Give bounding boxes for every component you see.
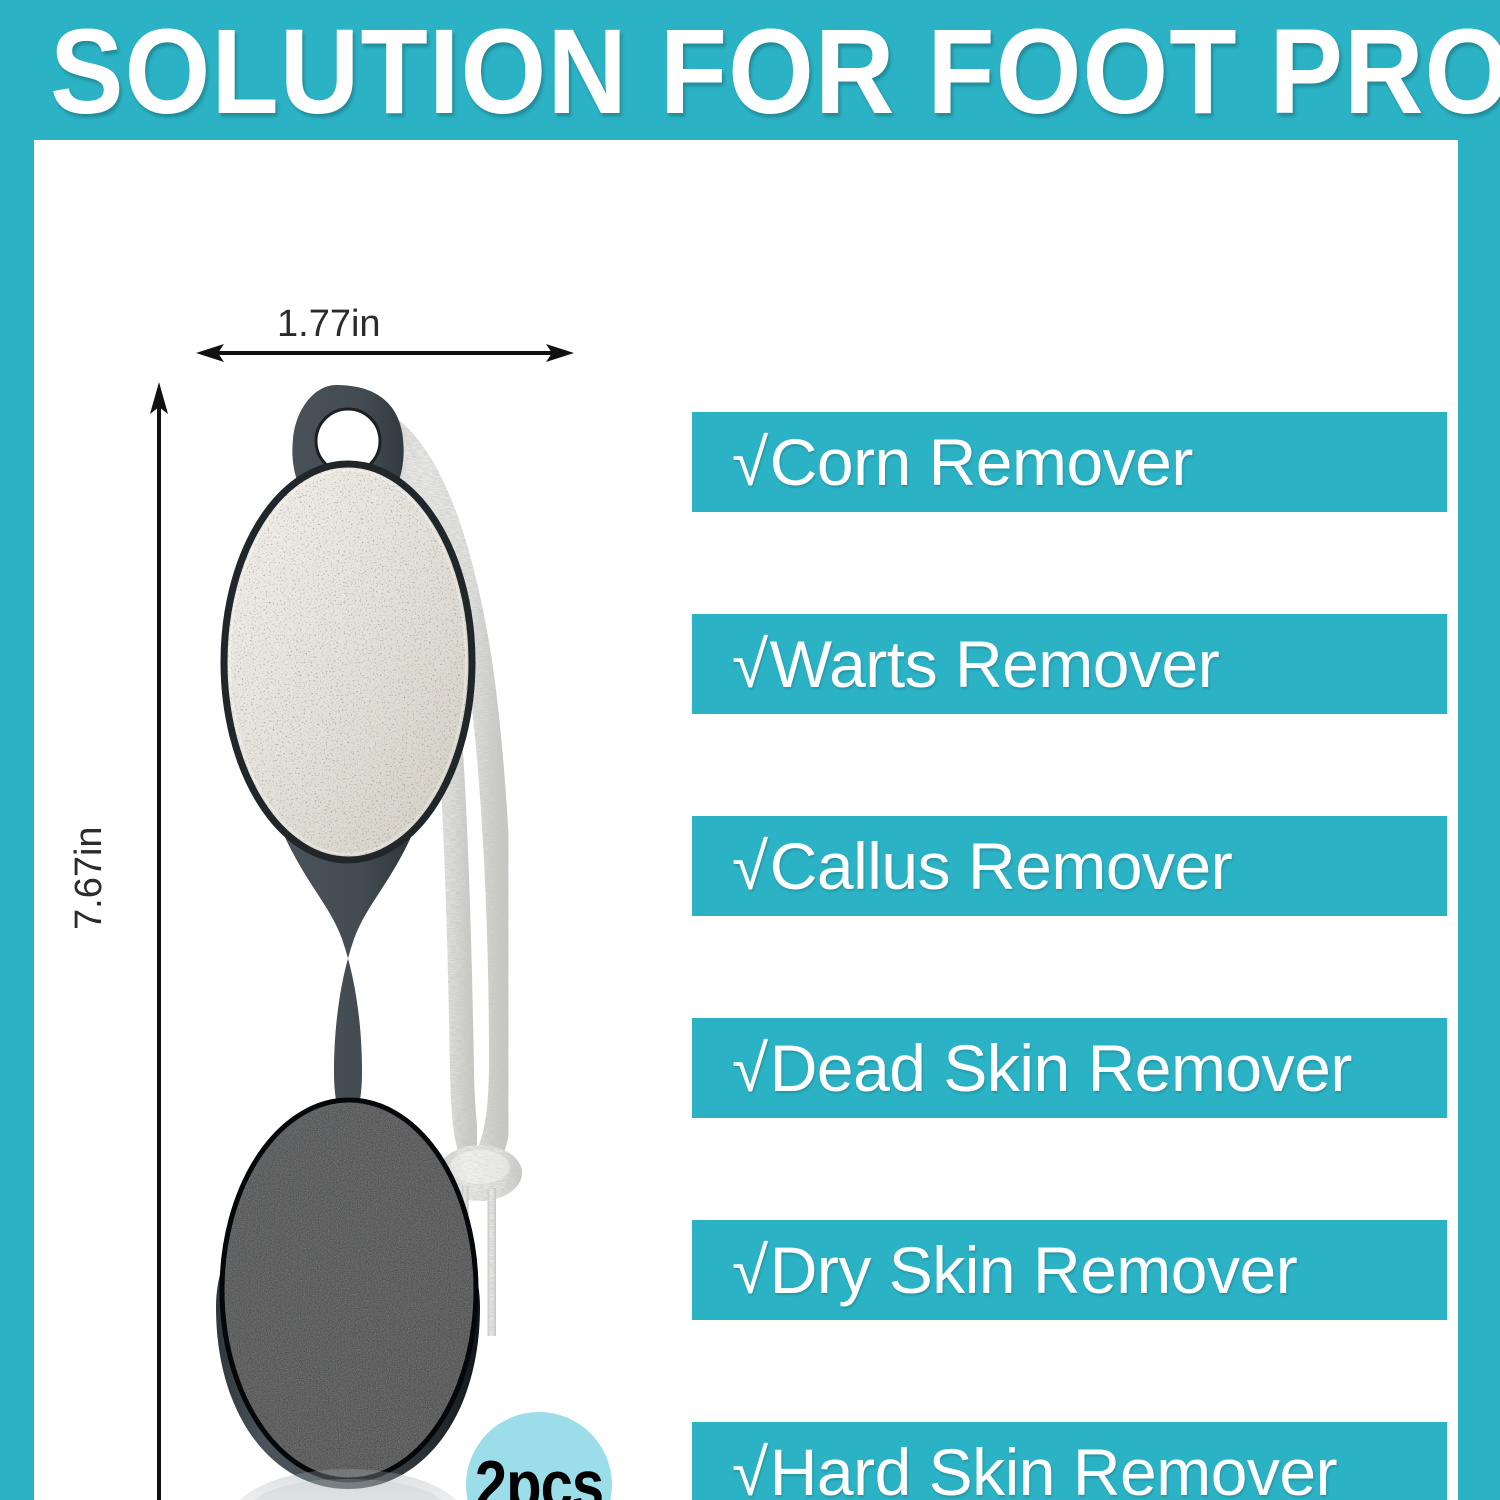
feature-text: Callus Remover bbox=[770, 829, 1232, 903]
pumice-pad bbox=[224, 464, 472, 860]
page-title: SOLUTION FOR FOOT PROBLEM bbox=[50, 4, 1500, 143]
feature-label: √Callus Remover bbox=[732, 828, 1232, 904]
feature-text: Dry Skin Remover bbox=[770, 1233, 1297, 1307]
check-icon: √ bbox=[732, 425, 768, 499]
feature-label: √Dead Skin Remover bbox=[732, 1030, 1352, 1106]
feature-text: Corn Remover bbox=[770, 425, 1193, 499]
feature-item-hard-skin-remover: √Hard Skin Remover bbox=[692, 1422, 1447, 1500]
content-panel: 1.77in 7.67in bbox=[34, 140, 1458, 1500]
feature-item-callus-remover: √Callus Remover bbox=[692, 816, 1447, 916]
feature-text: Dead Skin Remover bbox=[770, 1031, 1352, 1105]
feature-item-warts-remover: √Warts Remover bbox=[692, 614, 1447, 714]
check-icon: √ bbox=[732, 1233, 768, 1307]
quantity-badge-label: 2pcs bbox=[475, 1445, 603, 1500]
feature-label: √Hard Skin Remover bbox=[732, 1434, 1337, 1500]
feature-label: √Corn Remover bbox=[732, 424, 1193, 500]
check-icon: √ bbox=[732, 829, 768, 903]
product-infographic: SOLUTION FOR FOOT PROBLEM 1.77in 7.67in bbox=[0, 0, 1500, 1500]
emery-pad bbox=[222, 1100, 476, 1480]
feature-label: √Warts Remover bbox=[732, 626, 1219, 702]
header-band: SOLUTION FOR FOOT PROBLEM bbox=[0, 0, 1500, 140]
feature-list: √Corn Remover √Warts Remover √Callus Rem… bbox=[692, 412, 1452, 1500]
feature-item-dead-skin-remover: √Dead Skin Remover bbox=[692, 1018, 1447, 1118]
height-dimension-arrow-icon bbox=[142, 380, 176, 1500]
feature-text: Hard Skin Remover bbox=[770, 1435, 1337, 1500]
feature-label: √Dry Skin Remover bbox=[732, 1232, 1297, 1308]
check-icon: √ bbox=[732, 1031, 768, 1105]
product-image bbox=[184, 355, 654, 1500]
feature-text: Warts Remover bbox=[770, 627, 1219, 701]
height-dimension-label: 7.67in bbox=[68, 826, 111, 930]
check-icon: √ bbox=[732, 1435, 768, 1500]
check-icon: √ bbox=[732, 627, 768, 701]
feature-item-corn-remover: √Corn Remover bbox=[692, 412, 1447, 512]
product-reflection bbox=[230, 1469, 466, 1500]
feature-item-dry-skin-remover: √Dry Skin Remover bbox=[692, 1220, 1447, 1320]
